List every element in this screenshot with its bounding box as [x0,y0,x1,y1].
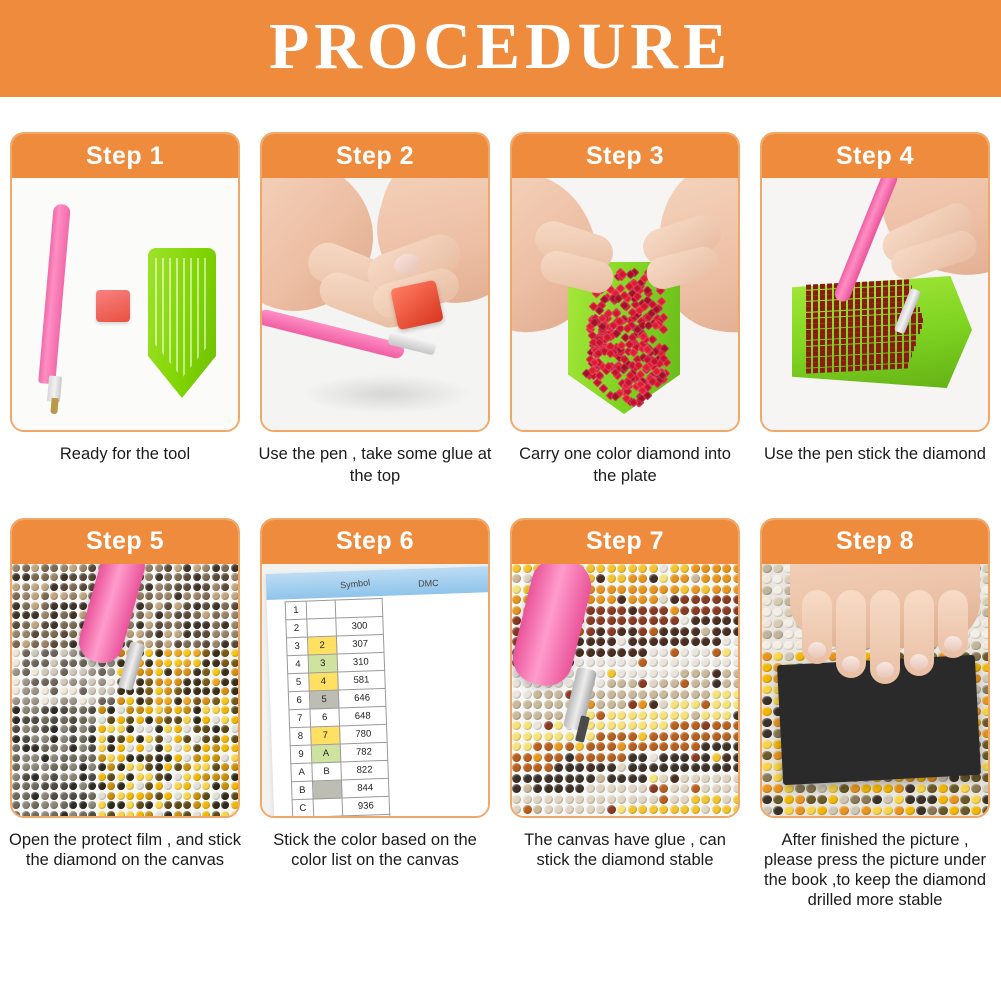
color-chart-sheet: Symbol DMC 12300323074331054581656467664… [266,566,488,816]
page-banner: PROCEDURE [0,0,1001,97]
step-card-3: Step 3 Carry one color diamond into the … [500,132,750,488]
step-2-header: Step 2 [262,134,488,178]
fingernail [808,642,826,658]
fingers [762,564,988,816]
color-list-table: 123003230743310545816564676648877809A782… [285,597,392,815]
steps-row-1: Step 1 Ready for the tool Ste [0,97,1001,488]
page-title: PROCEDURE [269,14,732,84]
step-7-image [512,564,738,816]
step-8-caption: After finished the picture , please pres… [756,830,994,911]
fingernail [842,656,860,672]
step-1-card: Step 1 [10,132,240,432]
step-card-1: Step 1 Ready for the tool [0,132,250,488]
fingernail [910,654,928,670]
step-6-card: Step 6 Symbol DMC 1230032307433105458165… [260,518,490,818]
step-3-card: Step 3 [510,132,740,432]
step-4-image [762,178,988,430]
step-1-image [12,178,238,430]
step-5-card: Step 5 [10,518,240,818]
steps-row-2: Step 5 Open the protect film , and stick… [0,488,1001,911]
steps-grid: Step 1 Ready for the tool Ste [0,97,1001,910]
step-5-caption: Open the protect film , and stick the di… [6,830,244,870]
step-4-caption: Use the pen stick the diamond [756,444,994,466]
step-5-image [12,564,238,816]
step-3-header: Step 3 [512,134,738,178]
step-4-header: Step 4 [762,134,988,178]
step-6-image: Symbol DMC 12300323074331054581656467664… [262,564,488,816]
step-4-card: Step 4 [760,132,990,432]
fingernail [944,636,962,652]
step-8-card: Step 8 [760,518,990,818]
step-card-2: Step 2 [250,132,500,488]
step-card-4: Step 4 Use the pen stick the diamond [750,132,1000,488]
step-5-header: Step 5 [12,520,238,564]
step-6-caption: Stick the color based on the color list … [256,830,494,870]
table-row: C936 [292,796,390,816]
step-2-image [262,178,488,430]
step-card-6: Step 6 Symbol DMC 1230032307433105458165… [250,518,500,911]
step-card-5: Step 5 Open the protect film , and stick… [0,518,250,911]
step-3-caption: Carry one color diamond into the plate [506,444,744,488]
step-7-card: Step 7 [510,518,740,818]
step-card-7: Step 7 The canvas have glue , can stick … [500,518,750,911]
step-8-header: Step 8 [762,520,988,564]
step-3-image [512,178,738,430]
step-1-caption: Ready for the tool [6,444,244,466]
step-2-caption: Use the pen , take some glue at the top [256,444,494,488]
wax-block-icon [96,290,130,322]
diamond-rows [802,282,952,374]
procedure-infographic: PROCEDURE Step 1 R [0,0,1001,1001]
step-6-header: Step 6 [262,520,488,564]
step-card-8: Step 8 After finished the picture , plea… [750,518,1000,911]
chart-col-header-dmc: DMC [418,577,439,588]
step-7-header: Step 7 [512,520,738,564]
step-2-card: Step 2 [260,132,490,432]
step-8-image [762,564,988,816]
step-1-header: Step 1 [12,134,238,178]
fingernail [876,662,894,678]
step-7-caption: The canvas have glue , can stick the dia… [506,830,744,870]
